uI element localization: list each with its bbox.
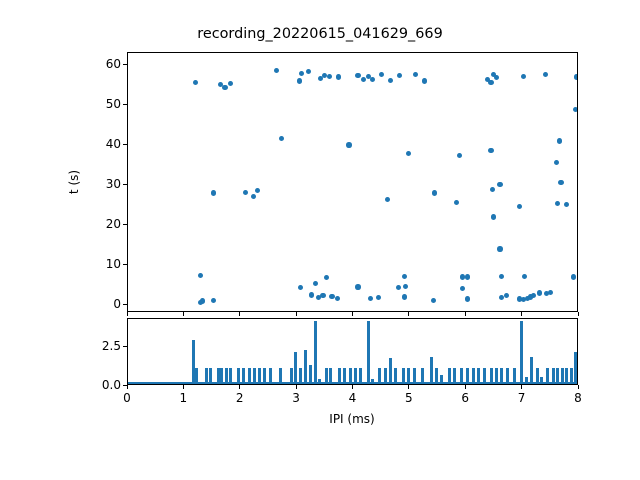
y-tick-mark [123,304,127,305]
histogram-bar [279,368,282,384]
histogram-bar [325,368,328,384]
histogram-bar [294,352,297,384]
histogram-bar [248,368,251,384]
histogram-bar [574,352,577,384]
scatter-point [457,153,462,158]
y-tick-label-hist: 2.5 [83,339,121,353]
x-axis-label: IPI (ms) [329,412,374,426]
scatter-point [557,138,562,143]
histogram-bar [525,377,528,384]
scatter-point [403,284,408,289]
x-tick-mark [408,385,409,389]
histogram-bar [552,368,555,384]
scatter-point [497,182,502,187]
scatter-point [517,204,522,209]
scatter-axes [127,52,578,312]
scatter-point [402,274,407,279]
y-tick-mark [123,184,127,185]
histogram-bar [290,368,293,384]
scatter-point [522,274,527,279]
x-tick-mark [296,385,297,389]
scatter-point [370,77,375,82]
scatter-point [379,72,384,77]
histogram-bar [343,368,346,384]
x-tick-mark-top [127,312,128,316]
histogram-bar [430,357,433,384]
histogram-bar [242,368,245,384]
scatter-point [306,69,311,74]
histogram-bar [309,365,312,384]
histogram-bar [209,368,212,384]
scatter-point [222,85,227,90]
scatter-point [251,194,256,199]
scatter-point [200,298,205,303]
histogram-bar [237,368,240,384]
histogram-bar [394,368,397,384]
scatter-point [422,78,427,83]
scatter-point [531,293,536,298]
x-tick-label: 8 [574,391,582,405]
x-tick-mark [465,385,466,389]
scatter-point [320,293,325,298]
scatter-point [376,295,381,300]
histogram-bar [258,368,261,384]
scatter-point [298,285,303,290]
histogram-bar [472,368,475,384]
matplotlib-figure: recording_20220615_041629_669 0102030405… [0,0,640,480]
scatter-point [497,246,502,251]
x-tick-mark-top [296,312,297,316]
histogram-bar [513,368,516,384]
scatter-point [388,78,393,83]
x-tick-label: 1 [180,391,188,405]
histogram-bar [367,321,370,384]
histogram-bar [195,368,198,384]
scatter-point [564,202,569,207]
scatter-point [432,190,437,195]
x-tick-label: 6 [461,391,469,405]
y-tick-label: 30 [83,177,121,191]
y-tick-mark [123,224,127,225]
y-tick-label: 20 [83,217,121,231]
histogram-bar [314,321,317,384]
histogram-bar [304,350,307,384]
scatter-point [346,142,351,147]
x-tick-mark-top [183,312,184,316]
y-tick-label: 40 [83,137,121,151]
histogram-bar [299,368,302,384]
histogram-bar [556,368,559,384]
scatter-point [431,298,436,303]
x-tick-label: 3 [292,391,300,405]
scatter-point [211,298,216,303]
histogram-bar [530,357,533,384]
scatter-point [309,292,314,297]
histogram-bar [483,368,486,384]
histogram-bar [520,321,523,384]
histogram-bar [460,368,463,384]
x-tick-mark-top [578,312,579,316]
scatter-point [193,80,198,85]
scatter-point [521,74,526,79]
histogram-bar [500,368,503,384]
histogram-bar [453,368,456,384]
x-tick-mark [578,385,579,389]
x-tick-label: 4 [349,391,357,405]
scatter-point [504,293,509,298]
scatter-point [558,180,563,185]
histogram-bar [570,368,573,384]
histogram-bar [402,368,405,384]
histogram-bar [349,368,352,384]
scatter-point [355,284,360,289]
scatter-point [355,73,360,78]
histogram-bar [329,368,332,384]
scatter-point [313,281,318,286]
scatter-point [490,187,495,192]
scatter-point [327,74,332,79]
scatter-point [499,295,504,300]
scatter-point [211,190,216,195]
histogram-bar [389,358,392,384]
histogram-bar [536,368,539,384]
histogram-bar [220,368,223,384]
x-tick-label: 5 [405,391,413,405]
scatter-point [335,296,340,301]
histogram-bar [378,368,381,384]
x-tick-mark [183,385,184,389]
scatter-point [571,274,576,279]
x-tick-mark-top [521,312,522,316]
scatter-point [397,73,402,78]
histogram-bar [371,379,374,384]
y-tick-label: 10 [83,257,121,271]
histogram-bar [354,368,357,384]
scatter-point [465,296,470,301]
scatter-point [274,68,279,73]
scatter-point [402,294,407,299]
scatter-point [555,201,560,206]
scatter-point [322,73,327,78]
x-tick-label: 0 [123,391,131,405]
x-tick-mark [127,385,128,389]
scatter-point [198,273,203,278]
histogram-bar [225,368,228,384]
histogram-plot-area [128,319,577,384]
scatter-point [494,75,499,80]
figure-title: recording_20220615_041629_669 [0,26,640,42]
histogram-bar [540,377,543,384]
y-tick-label-hist: 0.0 [83,378,121,392]
scatter-point [385,197,390,202]
y-tick-label: 60 [83,57,121,71]
histogram-bar [440,375,443,384]
x-tick-mark-top [408,312,409,316]
y-tick-mark [123,64,127,65]
x-tick-mark-top [239,312,240,316]
y-tick-mark-hist [123,346,127,347]
histogram-bar [338,368,341,384]
histogram-bar [495,368,498,384]
scatter-point [396,285,401,290]
scatter-point [329,294,334,299]
scatter-point [574,74,577,79]
x-tick-mark [239,385,240,389]
histogram-bar [413,368,416,384]
histogram-bar [318,379,321,384]
scatter-point [488,80,493,85]
scatter-point [413,72,418,77]
histogram-bar [477,368,480,384]
x-tick-label: 2 [236,391,244,405]
x-tick-label: 7 [518,391,526,405]
scatter-point [554,160,559,165]
histogram-bar [466,368,469,384]
scatter-point [548,290,553,295]
scatter-point [573,107,577,112]
y-tick-mark [123,104,127,105]
histogram-bar [359,368,362,384]
y-tick-mark [123,264,127,265]
histogram-bar [506,368,509,384]
scatter-point [243,190,248,195]
scatter-point [454,200,459,205]
histogram-bar [384,368,387,384]
scatter-point [279,136,284,141]
scatter-point [324,275,329,280]
scatter-point [336,74,341,79]
histogram-bar [253,368,256,384]
scatter-point [368,296,373,301]
histogram-axes [127,318,578,385]
histogram-bar [421,368,424,384]
y-tick-label: 50 [83,97,121,111]
histogram-bar [269,368,272,384]
x-tick-mark-top [465,312,466,316]
y-tick-mark [123,144,127,145]
histogram-bar [565,368,568,384]
x-tick-mark [521,385,522,389]
y-axis-label-top: t (s) [67,170,81,194]
histogram-bar [448,368,451,384]
histogram-bar [546,368,549,384]
histogram-bar [490,368,493,384]
histogram-bar [407,368,410,384]
scatter-point [299,71,304,76]
scatter-point [543,72,548,77]
x-tick-mark-top [352,312,353,316]
histogram-bar [229,368,232,384]
histogram-bar [561,368,564,384]
scatter-point [255,188,260,193]
scatter-point [491,214,496,219]
scatter-point [499,274,504,279]
histogram-bar [435,368,438,384]
y-tick-label: 0 [83,297,121,311]
scatter-point [465,274,470,279]
scatter-point [406,151,411,156]
scatter-point [460,286,465,291]
histogram-bar [263,368,266,384]
scatter-plot-area [128,53,577,311]
scatter-point [228,81,233,86]
scatter-point [297,78,302,83]
x-tick-mark [352,385,353,389]
scatter-point [488,148,493,153]
scatter-point [537,290,542,295]
